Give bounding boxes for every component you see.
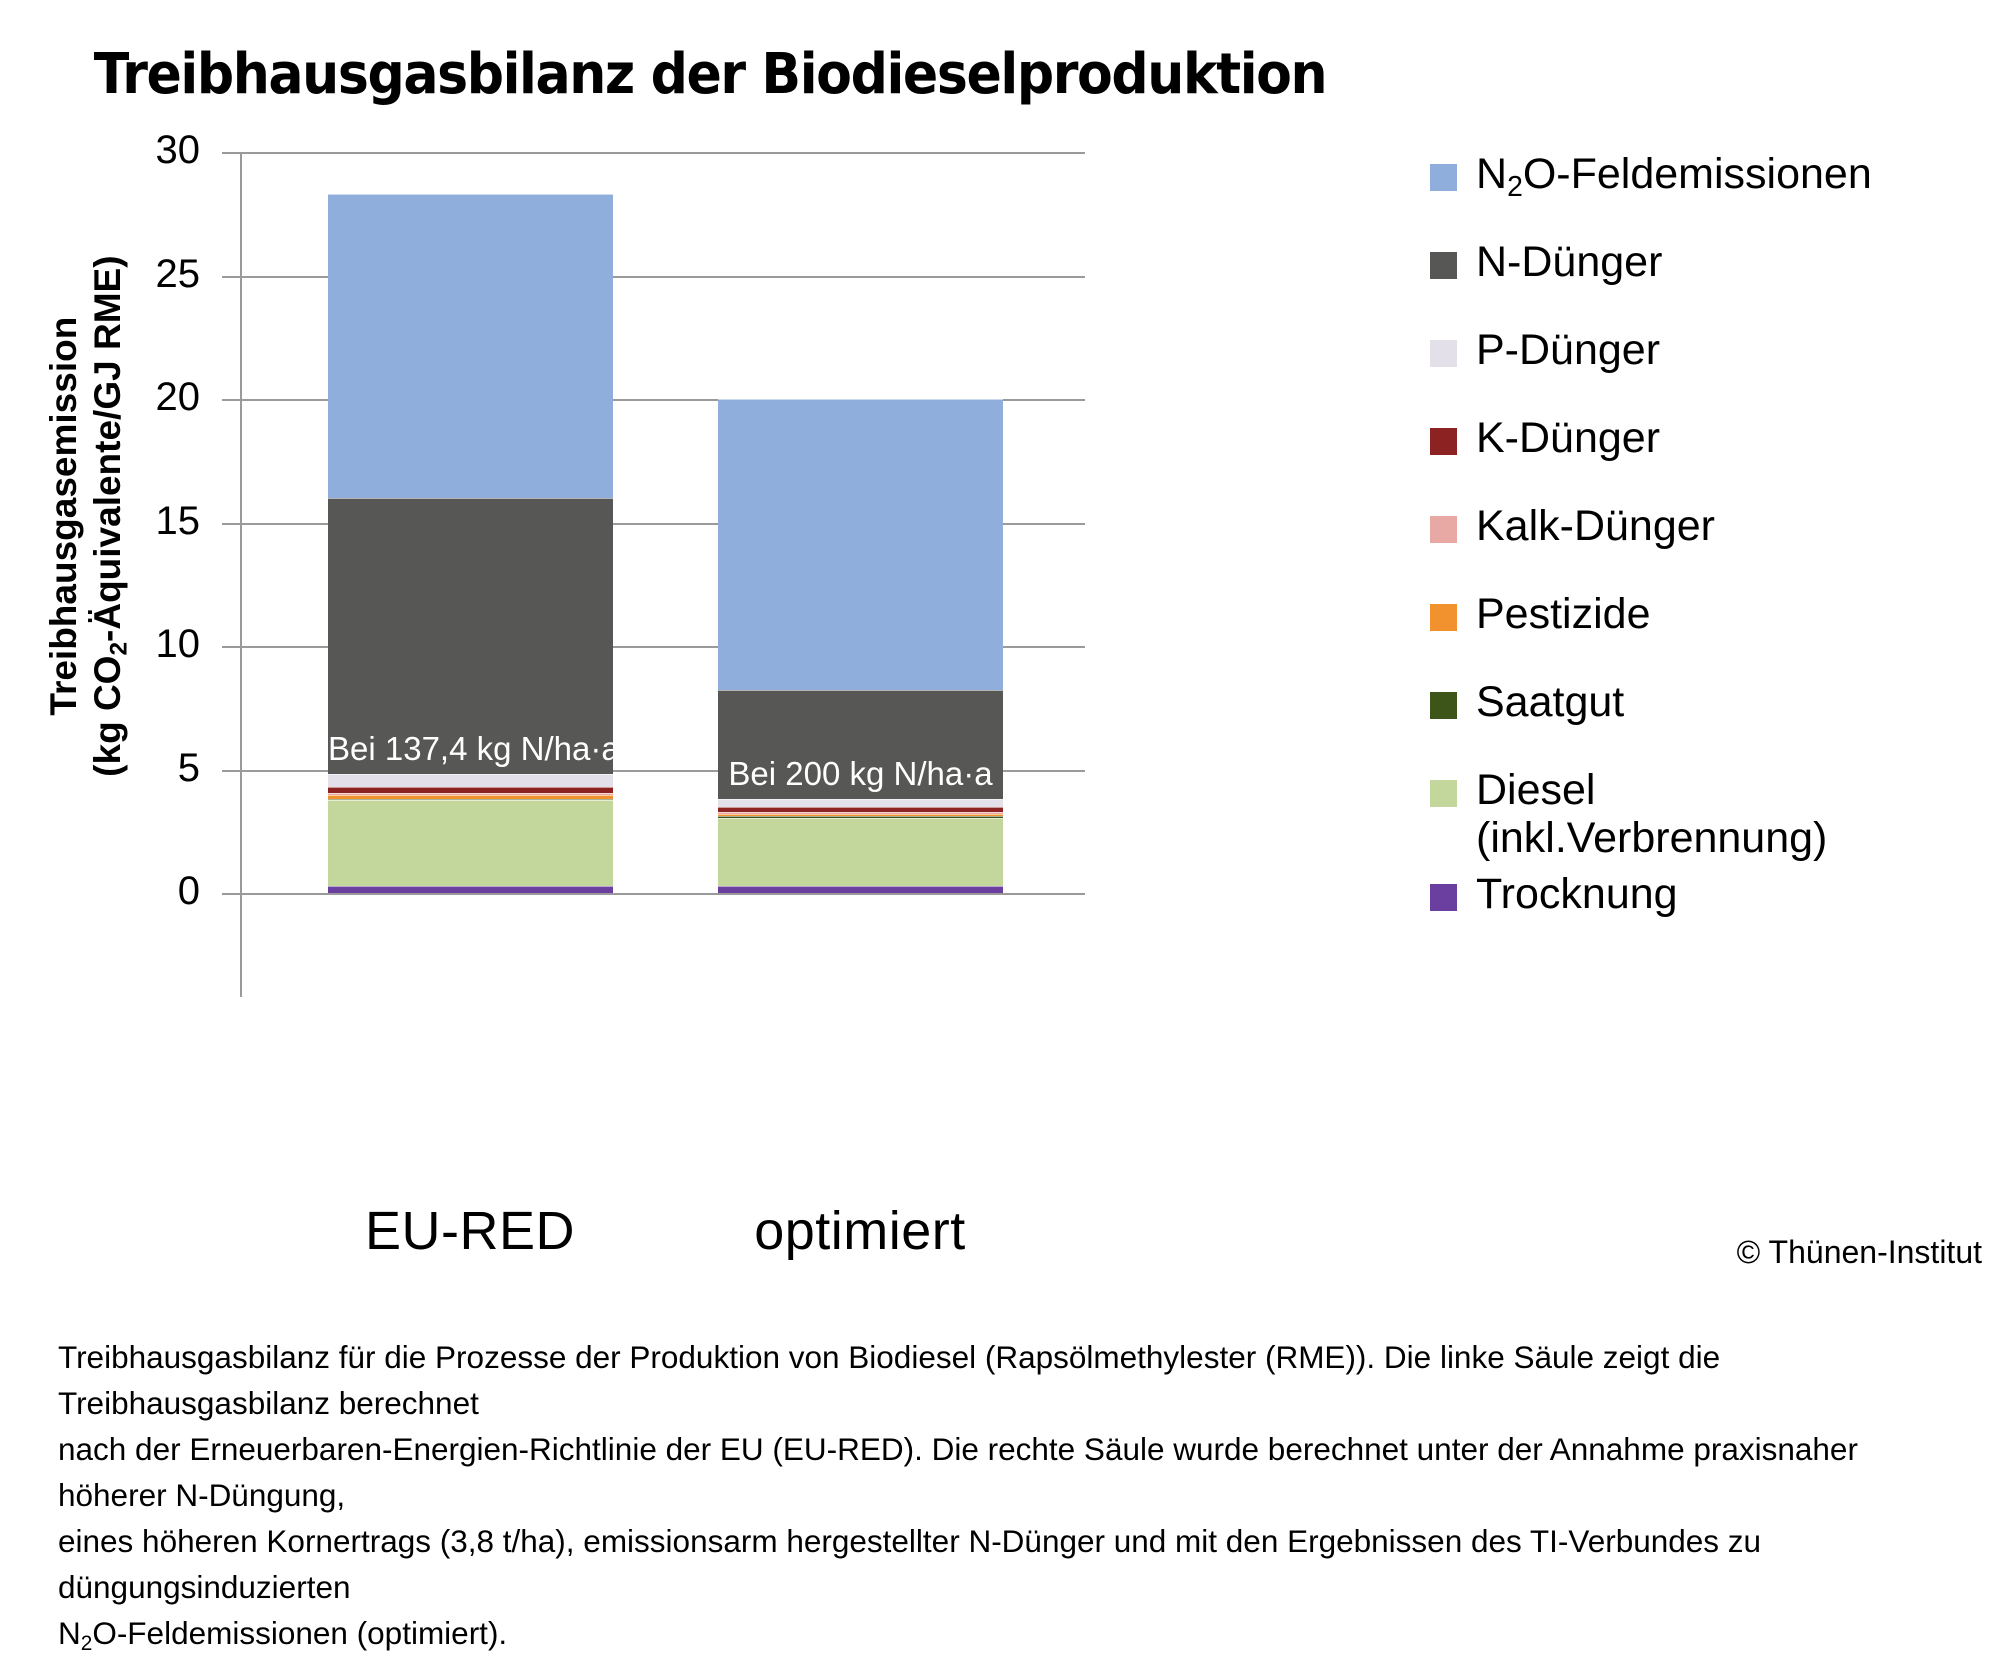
legend-swatch-icon bbox=[1430, 692, 1457, 719]
y-axis-tick-label: 5 bbox=[80, 748, 200, 788]
legend-label-part: N bbox=[1476, 150, 1507, 198]
legend-swatch-icon bbox=[1430, 340, 1457, 367]
legend-label: N-Dünger bbox=[1476, 238, 1662, 286]
y-axis-tick bbox=[222, 770, 240, 772]
bar-segment bbox=[328, 886, 613, 893]
legend-item-kalk-d-nger[interactable]: Kalk-Dünger bbox=[1430, 502, 1715, 550]
y-axis-tick bbox=[222, 152, 240, 154]
bar-segment bbox=[718, 812, 1003, 814]
y-axis-tick-label: 20 bbox=[80, 377, 200, 417]
legend-item-pestizide[interactable]: Pestizide bbox=[1430, 590, 1650, 638]
legend-item-saatgut[interactable]: Saatgut bbox=[1430, 678, 1624, 726]
y-axis-tick-label: 25 bbox=[80, 254, 200, 294]
legend-item-n2o-feldemissionen[interactable]: N2O-Feldemissionen bbox=[1430, 150, 1872, 204]
legend-label: Kalk-Dünger bbox=[1476, 502, 1715, 550]
legend-label-part: O-Feldemissionen bbox=[1523, 150, 1872, 198]
bar-segment bbox=[328, 787, 613, 793]
legend-item-n-d-nger[interactable]: N-Dünger bbox=[1430, 238, 1662, 286]
legend-swatch-icon bbox=[1430, 428, 1457, 455]
bar-annotation: Bei 137,4 kg N/ha·a bbox=[328, 730, 613, 768]
bar-annotation: Bei 200 kg N/ha·a bbox=[718, 755, 1003, 793]
legend-item-p-d-nger[interactable]: P-Dünger bbox=[1430, 326, 1660, 374]
y-axis-tick-label: 30 bbox=[80, 130, 200, 170]
caption-line-4: N2O-Feldemissionen (optimiert). bbox=[58, 1611, 1958, 1659]
bar-segment bbox=[328, 793, 613, 795]
gridline bbox=[240, 893, 1085, 895]
y-axis-tick bbox=[222, 893, 240, 895]
legend-item-k-d-nger[interactable]: K-Dünger bbox=[1430, 414, 1660, 462]
chart-panel: 051015202530 Bei 137,4 kg N/ha·aBei 200 … bbox=[240, 152, 1085, 893]
legend-swatch-icon bbox=[1430, 780, 1457, 807]
bar-optimiert[interactable]: Bei 200 kg N/ha·a bbox=[718, 399, 1003, 893]
legend-item-trocknung[interactable]: Trocknung bbox=[1430, 870, 1678, 918]
caption-line-2: nach der Erneuerbaren-Energien-Richtlini… bbox=[58, 1427, 1958, 1519]
caption-line-3: eines höheren Kornertrags (3,8 t/ha), em… bbox=[58, 1519, 1958, 1611]
y-axis-tick-label: 15 bbox=[80, 501, 200, 541]
bar-segment bbox=[718, 807, 1003, 812]
bar-eu-red[interactable]: Bei 137,4 kg N/ha·a bbox=[328, 194, 613, 893]
y-axis-tick bbox=[222, 646, 240, 648]
legend-swatch-icon bbox=[1430, 884, 1457, 911]
bar-segment bbox=[718, 814, 1003, 816]
bar-segment bbox=[328, 800, 613, 885]
x-axis-label-eu-red: EU-RED bbox=[260, 1200, 680, 1262]
legend-label-subscript: 2 bbox=[1507, 171, 1523, 203]
y-axis-tick bbox=[222, 399, 240, 401]
bar-segment bbox=[328, 774, 613, 786]
bar-segment bbox=[718, 886, 1003, 893]
legend-swatch-icon bbox=[1430, 604, 1457, 631]
legend-label: Trocknung bbox=[1476, 870, 1678, 918]
legend-swatch-icon bbox=[1430, 516, 1457, 543]
bar-segment bbox=[718, 818, 1003, 886]
bar-segment bbox=[328, 795, 613, 799]
legend-label: K-Dünger bbox=[1476, 414, 1660, 462]
x-axis-label-optimiert: optimiert bbox=[650, 1200, 1070, 1262]
legend-swatch-icon bbox=[1430, 252, 1457, 279]
bar-segment bbox=[718, 816, 1003, 817]
caption-line-1: Treibhausgasbilanz für die Prozesse der … bbox=[58, 1335, 1958, 1427]
bar-segment bbox=[718, 399, 1003, 690]
y-axis-line bbox=[240, 152, 242, 997]
y-axis-tick-label: 0 bbox=[80, 871, 200, 911]
plot-area: Treibhausgasemission (kg CO2-Äquivalente… bbox=[0, 0, 1420, 1300]
chart-figure: Treibhausgasbilanz der Biodieselprodukti… bbox=[0, 0, 2000, 1585]
legend-label: P-Dünger bbox=[1476, 326, 1660, 374]
y-axis-tick bbox=[222, 276, 240, 278]
legend-swatch-icon bbox=[1430, 164, 1457, 191]
legend-label: N2O-Feldemissionen bbox=[1476, 150, 1872, 204]
gridline bbox=[240, 152, 1085, 154]
y-axis-title-line1: Treibhausgasemission bbox=[42, 166, 86, 866]
legend-label: Diesel(inkl.Verbrennung) bbox=[1476, 766, 1827, 862]
copyright-notice: © Thünen-Institut bbox=[1737, 1234, 1982, 1271]
legend-label-line2: (inkl.Verbrennung) bbox=[1476, 814, 1827, 862]
bar-segment bbox=[328, 194, 613, 498]
figure-caption: Treibhausgasbilanz für die Prozesse der … bbox=[58, 1335, 1958, 1659]
legend-label: Pestizide bbox=[1476, 590, 1650, 638]
legend-label: Saatgut bbox=[1476, 678, 1624, 726]
legend-item-diesel-inkl-verbrennung[interactable]: Diesel(inkl.Verbrennung) bbox=[1430, 766, 1827, 862]
bar-segment bbox=[718, 799, 1003, 806]
bar-segment bbox=[328, 799, 613, 800]
y-axis-tick bbox=[222, 523, 240, 525]
y-axis-tick-label: 10 bbox=[80, 624, 200, 664]
